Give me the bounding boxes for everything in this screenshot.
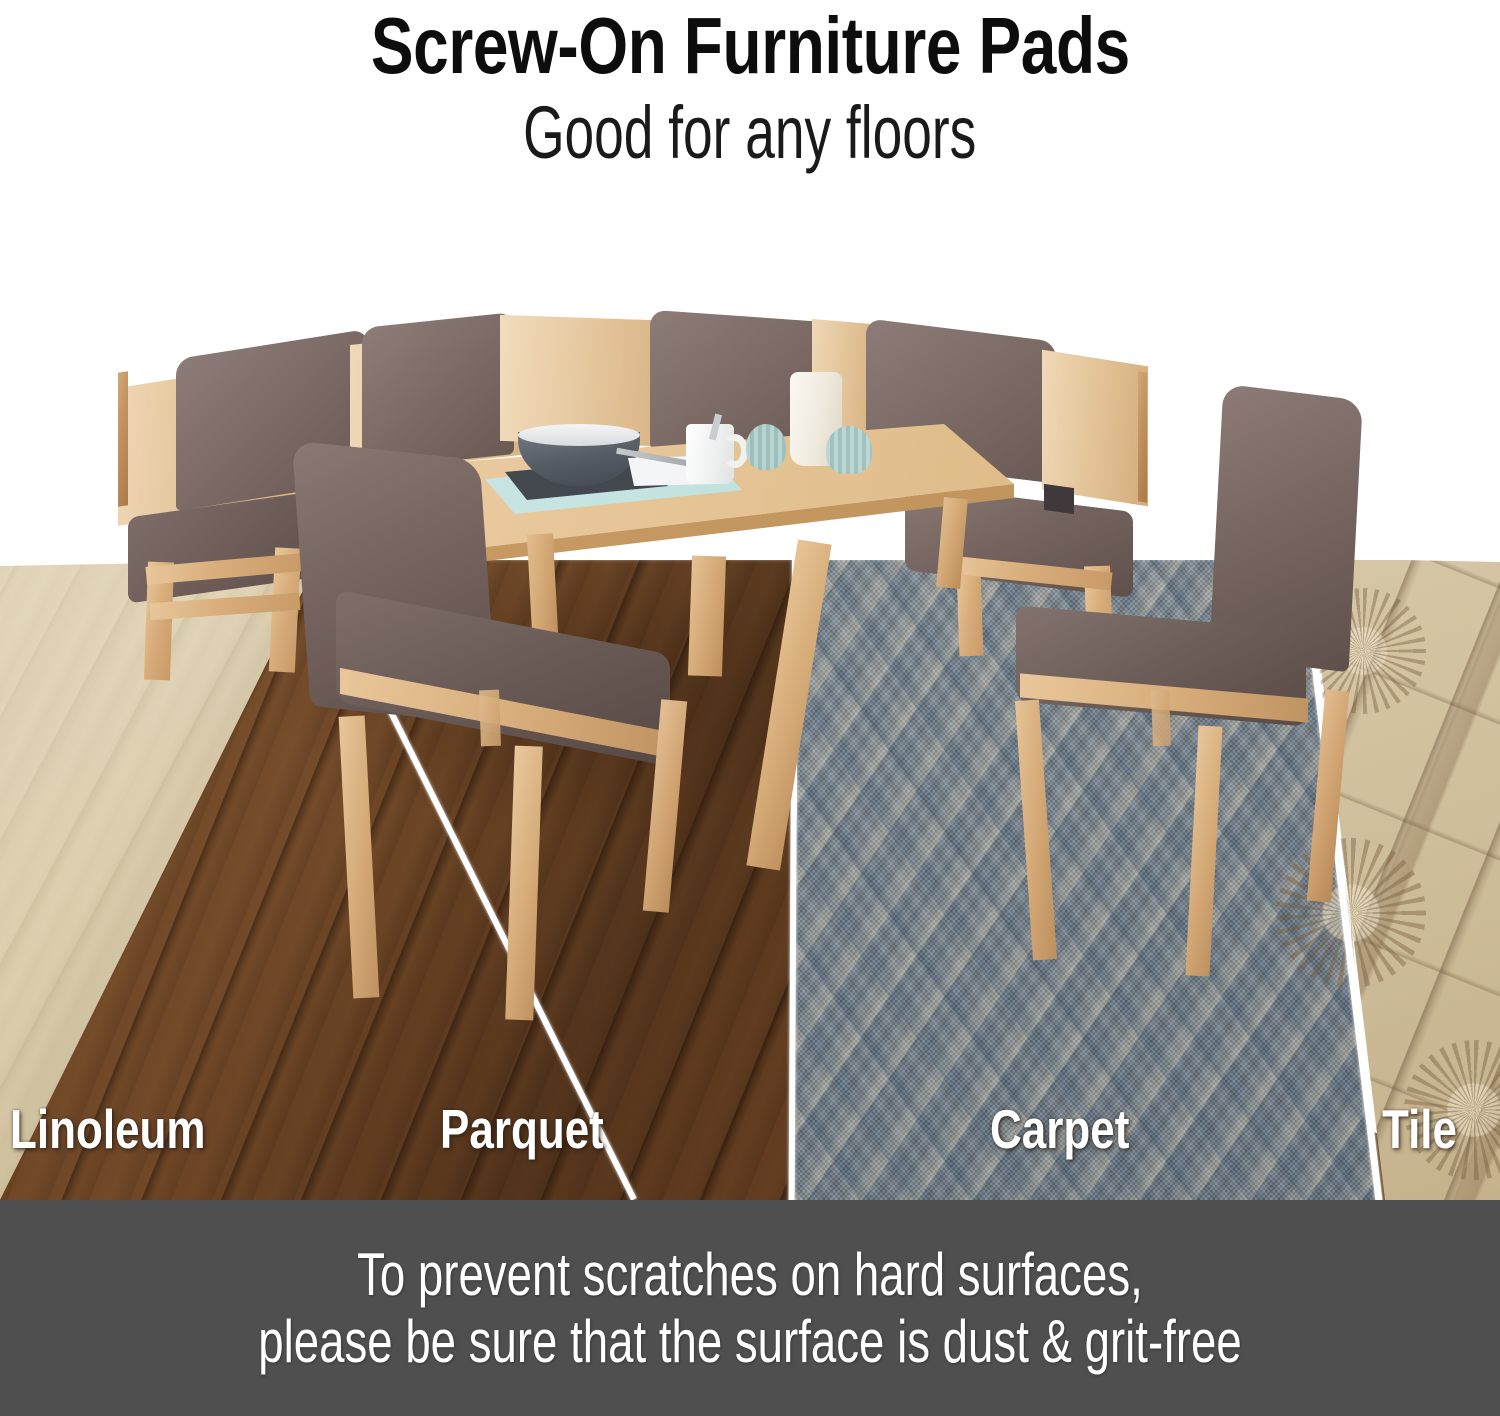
chair-right-leg-back-right <box>1307 689 1349 902</box>
table-leg-front-left <box>688 555 726 676</box>
chair-right-leg-front-left <box>1015 699 1057 960</box>
vase-teal-right <box>826 426 872 474</box>
chair-front-leg-front-left <box>339 716 380 999</box>
chair-right-leg-front-right <box>1185 726 1222 977</box>
bench-back-panel-right <box>1042 350 1148 507</box>
bottom-banner: To prevent scratches on hard surfaces, p… <box>0 1200 1500 1416</box>
floor-label-tile: Tile <box>1382 1102 1457 1157</box>
bench-backrest-cushion-mid-left <box>362 312 514 470</box>
chair-front-leg-front-right <box>505 746 543 1021</box>
banner-line-2: please be sure that the surface is dust … <box>258 1308 1241 1375</box>
floor-label-linoleum: Linoleum <box>10 1102 206 1157</box>
bowl-rim <box>518 424 640 446</box>
header: Screw-On Furniture Pads Good for any flo… <box>0 0 1500 215</box>
page-subtitle: Good for any floors <box>523 96 976 170</box>
floor-label-carpet: Carpet <box>990 1102 1129 1157</box>
floor-label-parquet: Parquet <box>440 1102 604 1157</box>
table-leg-front-right <box>746 539 831 870</box>
vase-teal-left <box>746 424 786 470</box>
chair-front-leg-back-left <box>479 690 501 747</box>
bench-back-panel-right-edge <box>1138 371 1147 502</box>
mug-handle <box>722 434 748 468</box>
chair-right-leg-back-left <box>1151 690 1171 747</box>
bench-back-panel-left-edge <box>118 371 128 507</box>
banner-line-1: To prevent scratches on hard surfaces, <box>357 1241 1143 1308</box>
bench-bracket <box>1044 484 1074 514</box>
page-title: Screw-On Furniture Pads <box>371 6 1130 86</box>
